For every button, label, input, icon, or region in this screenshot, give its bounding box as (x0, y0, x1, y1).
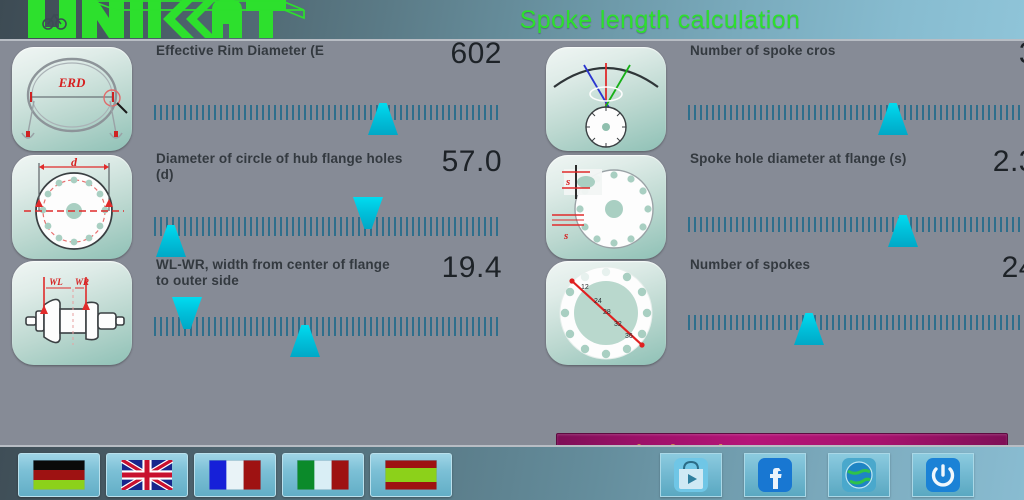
spoke-count-dial-icon[interactable]: 1224 2832 36 (546, 261, 666, 365)
slider-track[interactable] (688, 315, 1024, 330)
app-header: Spoke length calculation (0, 0, 1024, 41)
flag-germany[interactable] (18, 453, 100, 497)
field-label: WL-WR, width from center of flange to ou… (156, 257, 406, 289)
flag-germany-icon (33, 460, 85, 490)
slider-track[interactable] (688, 105, 1024, 120)
slider-spoke-crossings[interactable] (688, 89, 1024, 135)
slider-track[interactable] (154, 317, 500, 336)
field-row-hub-flange-diameter: d Diameter of circle of hub flange holes… (8, 151, 508, 261)
globe-icon (841, 457, 877, 493)
field-row-spoke-hole-diameter: s s Spoke hole diameter at flange (s) 2.… (542, 151, 1024, 261)
spoke-hole-diameter-icon[interactable]: s s (546, 155, 666, 259)
field-label: Diameter of circle of hub flange holes (… (156, 151, 406, 183)
field-value: 2.3 (916, 145, 1024, 179)
field-label: Spoke hole diameter at flange (s) (690, 151, 940, 167)
field-hub-flange-diameter: Diameter of circle of hub flange holes (… (146, 151, 504, 261)
main-content: ERD Effective Rim Diameter (E 602 (0, 43, 1024, 443)
flag-france-icon (209, 460, 261, 490)
slider-track[interactable] (688, 217, 1024, 232)
play-store-icon (673, 457, 709, 493)
flag-spain-icon (385, 460, 437, 490)
flag-italy[interactable] (282, 453, 364, 497)
unikat-logo (24, 0, 314, 40)
page-title: Spoke length calculation (440, 0, 880, 41)
power-button[interactable] (912, 453, 974, 497)
field-value: 3 (916, 37, 1024, 71)
hub-flange-circle-diameter-icon[interactable]: d (12, 155, 132, 259)
slider-number-of-spokes[interactable] (688, 299, 1024, 345)
svg-text:ERD: ERD (58, 75, 86, 90)
svg-text:24: 24 (594, 298, 602, 305)
field-spoke-hole-diameter: Spoke hole diameter at flange (s) 2.3 (680, 151, 1024, 261)
flag-france[interactable] (194, 453, 276, 497)
svg-text:s: s (563, 230, 568, 242)
hub-flange-width-icon[interactable]: WL WR (12, 261, 132, 365)
svg-text:12: 12 (581, 284, 589, 291)
slider-hub-flange-diameter[interactable] (154, 201, 500, 247)
field-number-of-spokes: Number of spokes 24 (680, 257, 1024, 367)
field-row-flange-width: WL WR WL-WR, width from center of flange… (8, 257, 508, 367)
field-row-effective-rim-diameter: ERD Effective Rim Diameter (E 602 (8, 43, 508, 153)
field-label: Effective Rim Diameter (E (156, 43, 406, 59)
flag-italy-icon (297, 460, 349, 490)
field-row-spoke-crossings: Number of spoke cros 3 (542, 43, 1024, 153)
play-store-button[interactable] (660, 453, 722, 497)
slider-track[interactable] (154, 105, 500, 120)
field-spoke-crossings: Number of spoke cros 3 (680, 43, 1024, 153)
svg-text:32: 32 (614, 321, 622, 328)
svg-text:s: s (565, 176, 570, 188)
spoke-crossing-diagram-icon[interactable] (546, 47, 666, 151)
field-value: 602 (382, 37, 502, 71)
svg-text:d: d (71, 155, 78, 169)
field-label: Number of spoke cros (690, 43, 940, 59)
field-value: 57.0 (382, 145, 502, 179)
slider-effective-rim-diameter[interactable] (154, 89, 500, 135)
slider-spoke-hole-diameter[interactable] (688, 201, 1024, 247)
globe-button[interactable] (828, 453, 890, 497)
svg-text:28: 28 (603, 309, 611, 316)
field-flange-width: WL-WR, width from center of flange to ou… (146, 257, 504, 367)
svg-text:WR: WR (75, 277, 89, 287)
field-effective-rim-diameter: Effective Rim Diameter (E 602 (146, 43, 504, 153)
svg-text:WL: WL (49, 277, 63, 287)
app-footer (0, 445, 1024, 500)
facebook-icon (757, 457, 793, 493)
right-column: Number of spoke cros 3 (542, 43, 1024, 443)
field-value: 19.4 (382, 251, 502, 285)
rim-erd-diagram-icon[interactable]: ERD (12, 47, 132, 151)
left-column: ERD Effective Rim Diameter (E 602 (8, 43, 508, 443)
facebook-button[interactable] (744, 453, 806, 497)
power-icon (925, 457, 961, 493)
flag-united-kingdom-icon (121, 460, 173, 490)
slider-track[interactable] (154, 217, 500, 236)
flag-united-kingdom[interactable] (106, 453, 188, 497)
slider-flange-width[interactable] (154, 301, 500, 347)
flag-spain[interactable] (370, 453, 452, 497)
svg-text:36: 36 (625, 333, 633, 340)
field-value: 24 (916, 251, 1024, 285)
field-row-number-of-spokes: 1224 2832 36 Number of spokes 24 (542, 257, 1024, 367)
field-label: Number of spokes (690, 257, 940, 273)
